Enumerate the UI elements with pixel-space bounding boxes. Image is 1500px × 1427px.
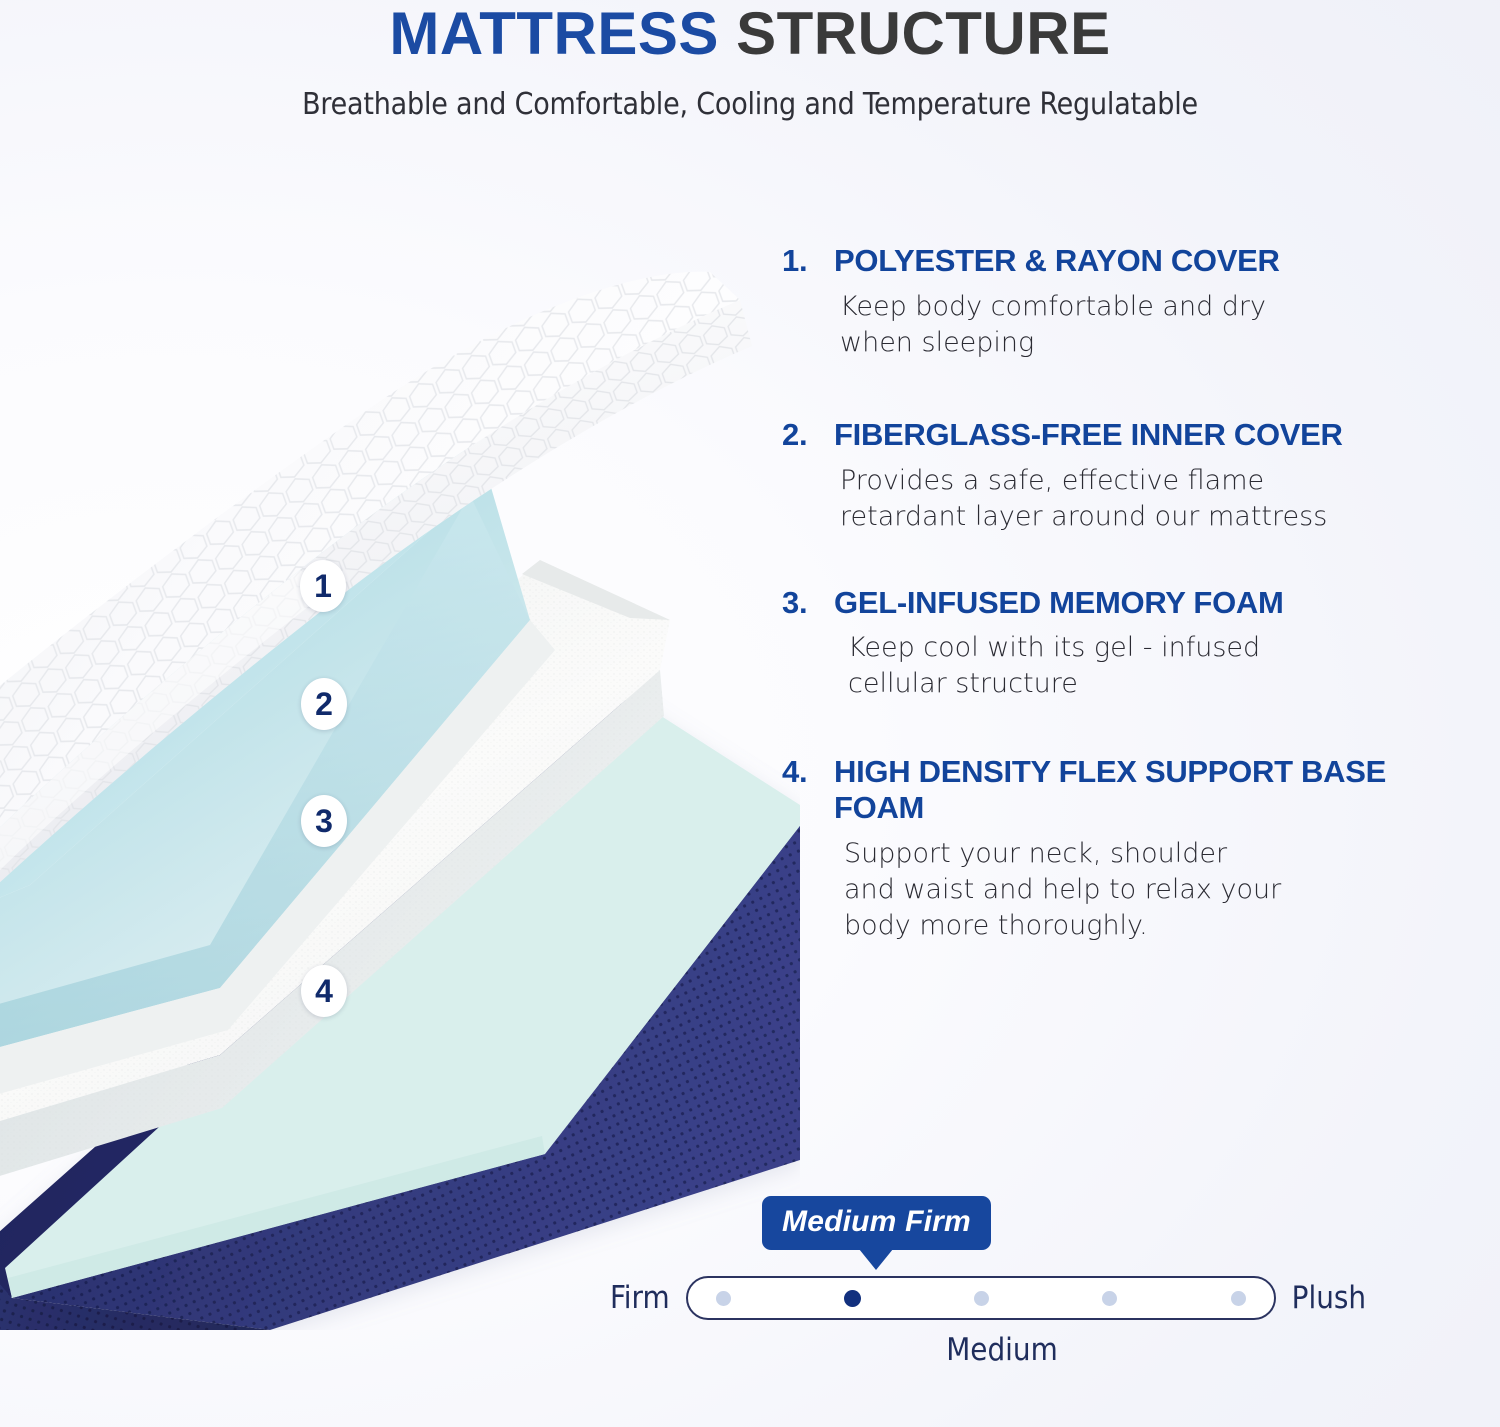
feature-description: Keep cool with its gel - infused cellula… bbox=[848, 630, 1482, 702]
feature-title: FIBERGLASS-FREE INNER COVER bbox=[834, 417, 1482, 453]
feature-item-high-density-flex-support-base-foam: 4. HIGH DENSITY FLEX SUPPORT BASE FOAM S… bbox=[782, 754, 1482, 944]
feature-title: GEL-INFUSED MEMORY FOAM bbox=[834, 585, 1482, 621]
firmness-dot-5[interactable] bbox=[1231, 1291, 1246, 1306]
feature-item-fiberglass-free-inner-cover: 2. FIBERGLASS-FREE INNER COVER Provides … bbox=[782, 417, 1482, 535]
firmness-label-medium: Medium bbox=[592, 1332, 1412, 1368]
firmness-dot-1[interactable] bbox=[716, 1291, 731, 1306]
firmness-tooltip: Medium Firm bbox=[762, 1196, 991, 1250]
feature-number: 4. bbox=[782, 754, 834, 790]
firmness-track[interactable] bbox=[686, 1276, 1276, 1320]
firmness-dot-4[interactable] bbox=[1102, 1291, 1117, 1306]
feature-number: 1. bbox=[782, 243, 834, 279]
feature-description: Keep body comfortable and dry when sleep… bbox=[840, 289, 1482, 361]
mattress-layers-svg bbox=[0, 150, 800, 1330]
feature-number: 3. bbox=[782, 585, 834, 621]
firmness-label-plush: Plush bbox=[1292, 1280, 1366, 1316]
mattress-cutaway-illustration: 1 2 3 4 bbox=[0, 150, 800, 1330]
feature-number: 2. bbox=[782, 417, 834, 453]
layer-badge-3: 3 bbox=[301, 795, 347, 847]
firmness-dot-2-selected[interactable] bbox=[844, 1290, 861, 1307]
feature-heading: 2. FIBERGLASS-FREE INNER COVER bbox=[782, 417, 1482, 453]
layer-badge-1: 1 bbox=[300, 560, 346, 612]
firmness-scale-row: Firm Plush bbox=[610, 1276, 1430, 1320]
feature-heading: 1. POLYESTER & RAYON COVER bbox=[782, 243, 1482, 279]
feature-title: HIGH DENSITY FLEX SUPPORT BASE FOAM bbox=[834, 754, 1482, 826]
feature-heading: 4. HIGH DENSITY FLEX SUPPORT BASE FOAM bbox=[782, 754, 1482, 826]
title-highlight: MATTRESS bbox=[389, 0, 719, 67]
page-title: MATTRESS STRUCTURE bbox=[0, 0, 1500, 65]
firmness-label-firm: Firm bbox=[610, 1280, 670, 1316]
firmness-dot-3[interactable] bbox=[974, 1291, 989, 1306]
feature-description: Provides a safe, effective flame retarda… bbox=[840, 463, 1482, 535]
layer-badge-2: 2 bbox=[301, 678, 347, 730]
feature-title: POLYESTER & RAYON COVER bbox=[834, 243, 1482, 279]
feature-description: Support your neck, shoulder and waist an… bbox=[844, 836, 1482, 944]
feature-heading: 3. GEL-INFUSED MEMORY FOAM bbox=[782, 585, 1482, 621]
feature-item-gel-infused-memory-foam: 3. GEL-INFUSED MEMORY FOAM Keep cool wit… bbox=[782, 585, 1482, 703]
layer-badge-4: 4 bbox=[301, 965, 347, 1017]
firmness-scale: Medium Firm Firm Plush Medium bbox=[610, 1196, 1430, 1376]
page-subtitle: Breathable and Comfortable, Cooling and … bbox=[0, 65, 1500, 122]
infographic-page: MATTRESS STRUCTURE Breathable and Comfor… bbox=[0, 0, 1500, 1427]
header: MATTRESS STRUCTURE Breathable and Comfor… bbox=[0, 0, 1500, 122]
feature-list: 1. POLYESTER & RAYON COVER Keep body com… bbox=[782, 243, 1482, 944]
title-rest: STRUCTURE bbox=[736, 0, 1111, 67]
feature-item-polyester-rayon-cover: 1. POLYESTER & RAYON COVER Keep body com… bbox=[782, 243, 1482, 361]
